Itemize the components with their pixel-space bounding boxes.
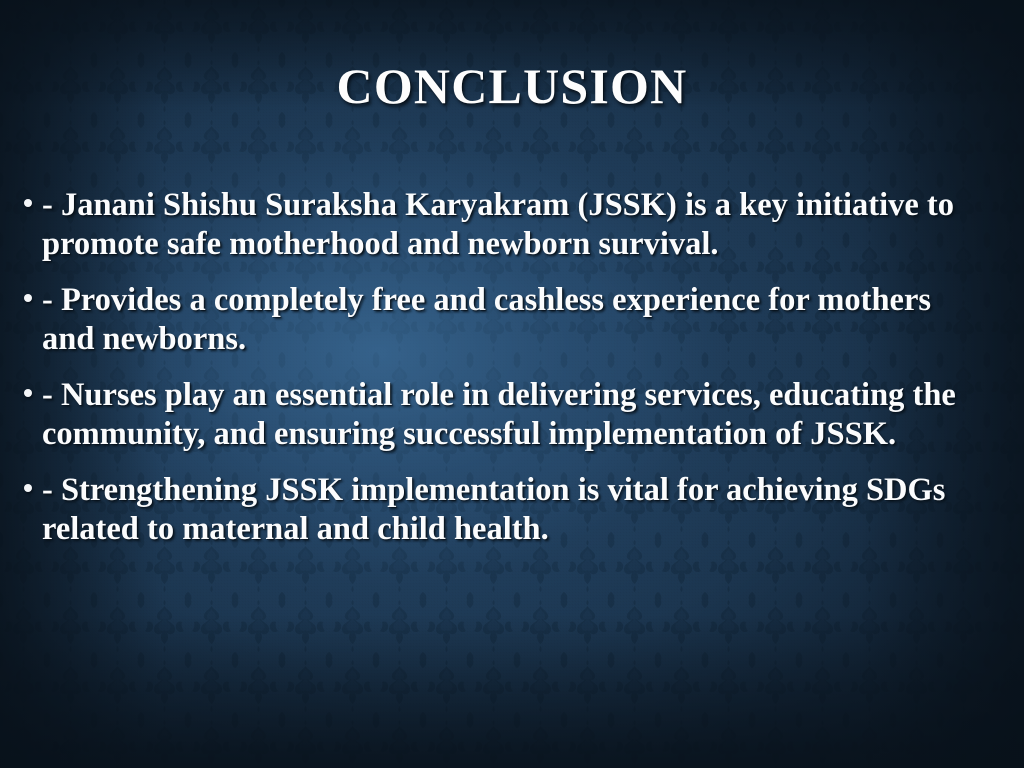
bullet-item: - Janani Shishu Suraksha Karyakram (JSSK…: [14, 186, 994, 264]
bullet-text: - Provides a completely free and cashles…: [42, 281, 994, 359]
bullet-dot-icon: [14, 376, 42, 397]
bullet-item: - Provides a completely free and cashles…: [14, 281, 994, 359]
slide-content: Conclusion - Janani Shishu Suraksha Kary…: [0, 0, 1024, 768]
bullet-dot-icon: [14, 281, 42, 302]
slide-title: Conclusion: [0, 58, 1024, 114]
bullet-list: - Janani Shishu Suraksha Karyakram (JSSK…: [14, 186, 994, 549]
bullet-text: - Strengthening JSSK implementation is v…: [42, 471, 994, 549]
bullet-text: - Janani Shishu Suraksha Karyakram (JSSK…: [42, 186, 994, 264]
bullet-item: - Strengthening JSSK implementation is v…: [14, 471, 994, 549]
bullet-dot-icon: [14, 186, 42, 207]
bullet-text: - Nurses play an essential role in deliv…: [42, 376, 994, 454]
bullet-item: - Nurses play an essential role in deliv…: [14, 376, 994, 454]
presentation-slide: Conclusion - Janani Shishu Suraksha Kary…: [0, 0, 1024, 768]
bullet-dot-icon: [14, 471, 42, 492]
